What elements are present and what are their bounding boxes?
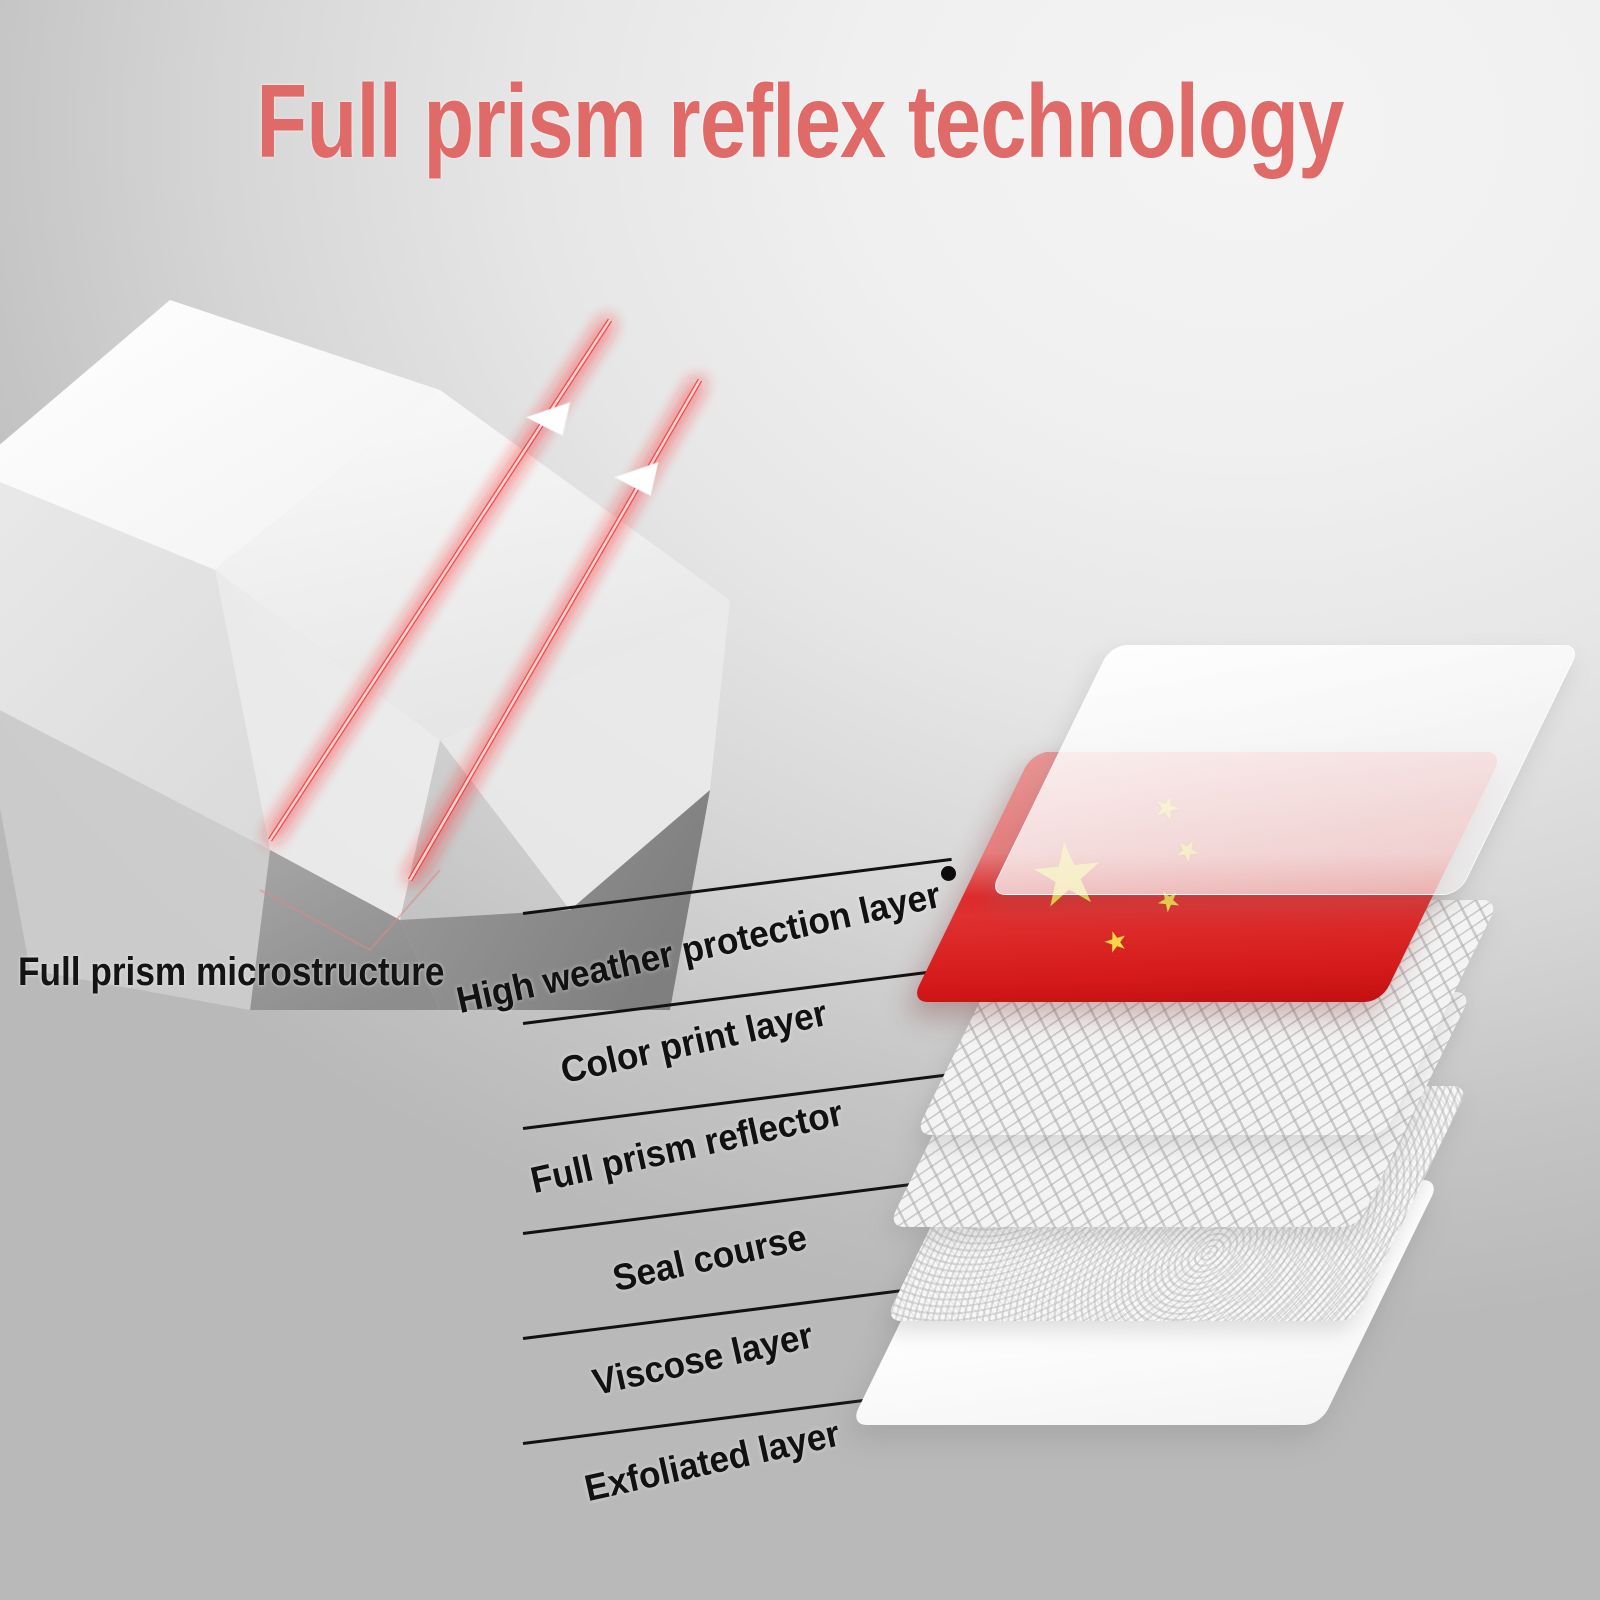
diagram-canvas: Full prism reflex technology <box>0 0 1600 1600</box>
callout-label: Exfoliated layer <box>581 1413 844 1510</box>
flag-small-star-4: ★ <box>1097 924 1134 961</box>
exploded-layer-stack: ★ ★ ★ ★ ★ <box>900 600 1600 1520</box>
layer-high-weather-protection-layer <box>989 645 1581 895</box>
